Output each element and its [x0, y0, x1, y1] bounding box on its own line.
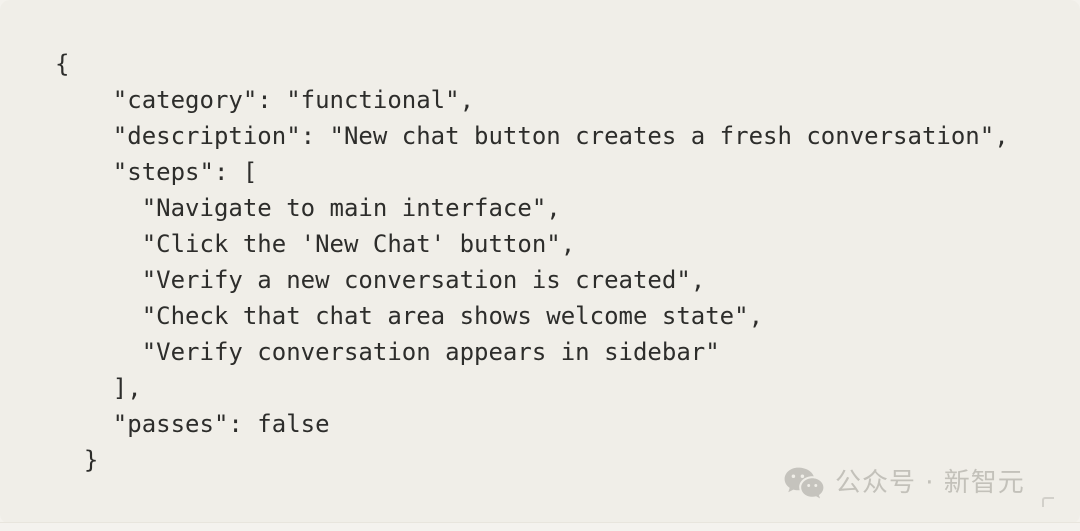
- code-line-5: "Click the 'New Chat' button",: [0, 226, 1080, 262]
- code-line-4: "Navigate to main interface",: [0, 190, 1080, 226]
- code-line-9: ],: [0, 370, 1080, 406]
- screenshot-root: { "category": "functional", "description…: [0, 0, 1080, 531]
- panel-corner-artifact: [1042, 497, 1054, 507]
- panel-bottom-edge: [0, 522, 1080, 531]
- code-line-8: "Verify conversation appears in sidebar": [0, 334, 1080, 370]
- code-panel: { "category": "functional", "description…: [0, 0, 1080, 524]
- code-line-11: }: [0, 442, 1080, 478]
- json-code-block: { "category": "functional", "description…: [0, 46, 1080, 478]
- code-line-10: "passes": false: [0, 406, 1080, 442]
- code-line-1: "category": "functional",: [0, 82, 1080, 118]
- code-line-2: "description": "New chat button creates …: [0, 118, 1080, 154]
- code-line-3: "steps": [: [0, 154, 1080, 190]
- code-line-7: "Check that chat area shows welcome stat…: [0, 298, 1080, 334]
- code-line-0: {: [0, 46, 1080, 82]
- code-line-6: "Verify a new conversation is created",: [0, 262, 1080, 298]
